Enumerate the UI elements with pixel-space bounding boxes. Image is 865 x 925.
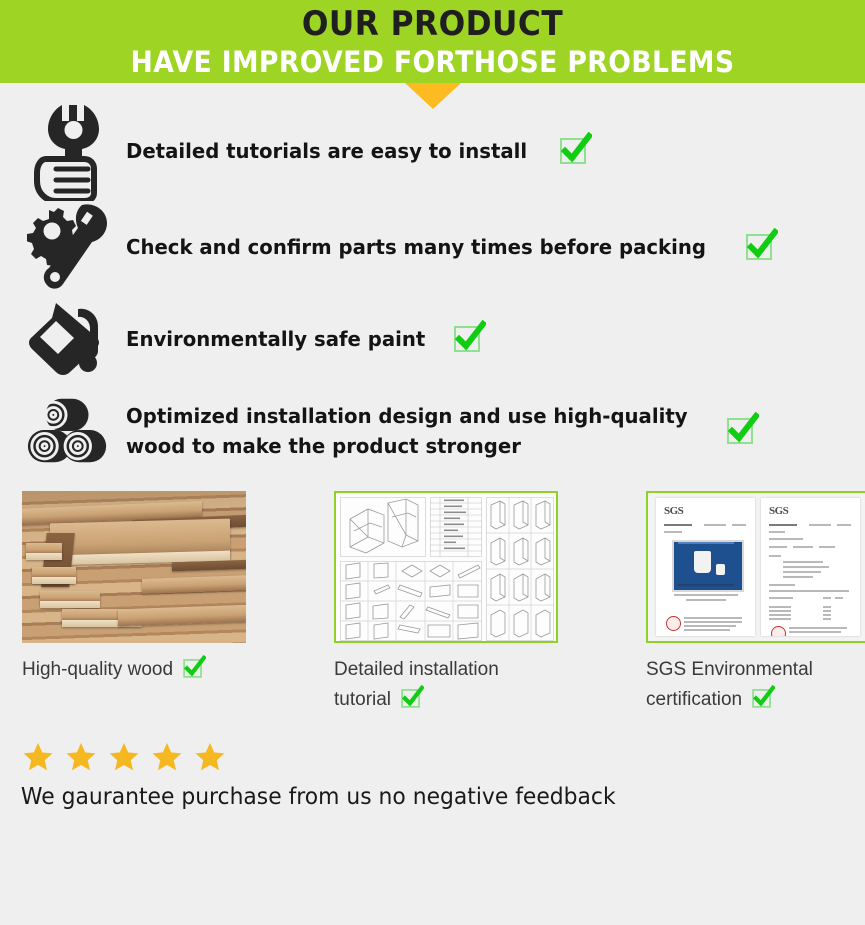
green-check-icon bbox=[744, 228, 778, 267]
sgs-logo: SGS bbox=[769, 505, 788, 517]
star-icon bbox=[65, 741, 97, 778]
green-check-icon bbox=[182, 655, 206, 689]
feature-row: Optimized installation design and use hi… bbox=[0, 385, 865, 477]
page-title: OUR PRODUCT bbox=[35, 4, 831, 44]
feature-label: Optimized installation design and use hi… bbox=[126, 401, 688, 461]
card-caption: Detailed installation tutorial bbox=[334, 655, 558, 719]
green-check-icon bbox=[400, 685, 424, 719]
card-caption: SGS Environmental certification bbox=[646, 655, 865, 719]
proof-card: Detailed installation tutorial bbox=[334, 491, 558, 719]
product-feature-infographic: OUR PRODUCT HAVE IMPROVED FORTHOSE PROBL… bbox=[0, 0, 865, 925]
green-check-icon bbox=[725, 412, 759, 451]
sgs-report-page-left: SGS bbox=[656, 498, 755, 636]
green-check-icon bbox=[452, 320, 486, 359]
feature-label: Check and confirm parts many times befor… bbox=[126, 232, 706, 262]
card-caption: High-quality wood bbox=[22, 655, 246, 689]
sgs-logo: SGS bbox=[664, 505, 683, 517]
feature-label: Detailed tutorials are easy to install bbox=[126, 136, 527, 166]
guarantee-text: We gaurantee purchase from us no negativ… bbox=[0, 784, 822, 810]
proof-card: SGS bbox=[646, 491, 865, 719]
stacked-logs-icon bbox=[24, 396, 112, 466]
feature-row: Environmentally safe paint bbox=[0, 293, 865, 385]
star-icon bbox=[22, 741, 54, 778]
green-check-icon bbox=[558, 132, 592, 171]
page-subtitle: HAVE IMPROVED FORTHOSE PROBLEMS bbox=[35, 44, 831, 80]
feature-list: Detailed tutorials are easy to install bbox=[0, 83, 865, 477]
paint-can-icon bbox=[24, 299, 112, 379]
assembly-diagram-sheet bbox=[334, 491, 558, 643]
star-icon bbox=[108, 741, 140, 778]
star-icon bbox=[194, 741, 226, 778]
sgs-report-page-right: SGS bbox=[761, 498, 860, 636]
proof-card: High-quality wood bbox=[22, 491, 246, 719]
sgs-certificate-pages: SGS bbox=[646, 491, 865, 643]
star-rating bbox=[0, 741, 865, 778]
gear-and-wrench-icon bbox=[24, 204, 112, 290]
header-banner: OUR PRODUCT HAVE IMPROVED FORTHOSE PROBL… bbox=[0, 0, 865, 83]
green-check-icon bbox=[751, 685, 775, 719]
star-icon bbox=[151, 741, 183, 778]
card-caption-text: SGS Environmental certification bbox=[646, 659, 813, 710]
wood-panels-photo bbox=[22, 491, 246, 643]
feature-row: Check and confirm parts many times befor… bbox=[0, 201, 865, 293]
feature-label: Environmentally safe paint bbox=[126, 324, 425, 354]
card-caption-text: High-quality wood bbox=[22, 659, 173, 680]
proof-card-list: High-quality wood bbox=[0, 491, 865, 719]
feature-row: Detailed tutorials are easy to install bbox=[0, 101, 865, 201]
hand-holding-wrench-icon bbox=[24, 101, 112, 201]
